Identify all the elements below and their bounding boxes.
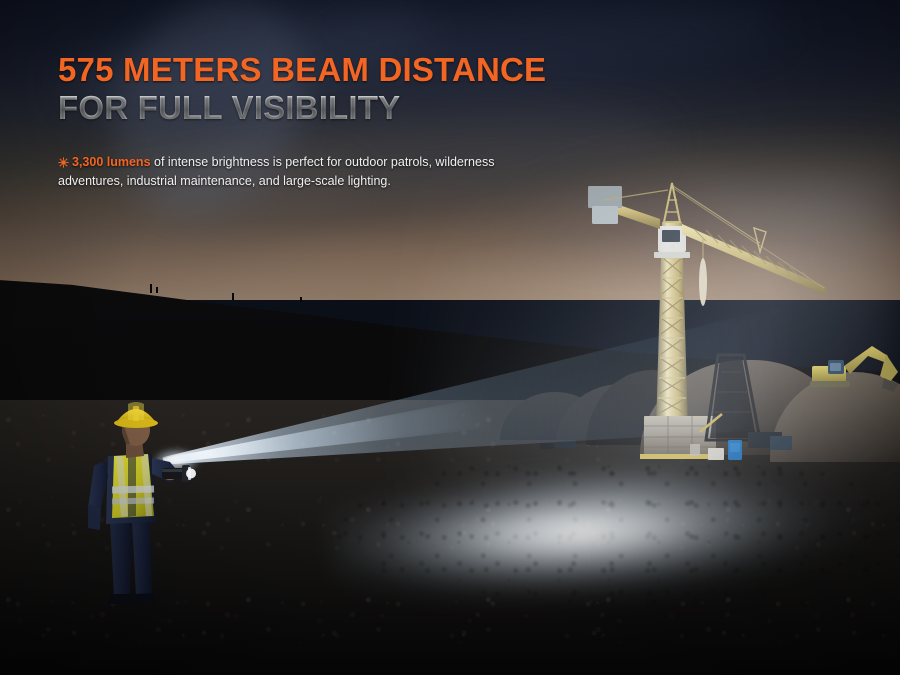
subtext-paragraph: 3,300 lumens of intense brightness is pe… (58, 154, 538, 190)
headline-secondary: FOR FULL VISIBILITY (58, 90, 400, 126)
crane-main-jib (673, 186, 826, 306)
worker-hivis-vest (112, 454, 154, 518)
ground-light-pool-texture (330, 455, 900, 605)
lumens-value: 3,300 lumens (72, 155, 151, 169)
excavator (810, 346, 898, 392)
hopper-frame (706, 355, 760, 440)
marketing-banner: 575 METERS BEAM DISTANCE FOR FULL VISIBI… (0, 0, 900, 675)
worker-with-flashlight (70, 390, 200, 620)
headline-primary: 575 METERS BEAM DISTANCE (58, 52, 618, 88)
worker-hardhat (114, 402, 158, 428)
sun-burst-icon (58, 156, 69, 173)
worker-legs (108, 520, 156, 604)
headline-block: 575 METERS BEAM DISTANCE FOR FULL VISIBI… (58, 52, 618, 126)
crane-counter-jib (588, 186, 668, 229)
